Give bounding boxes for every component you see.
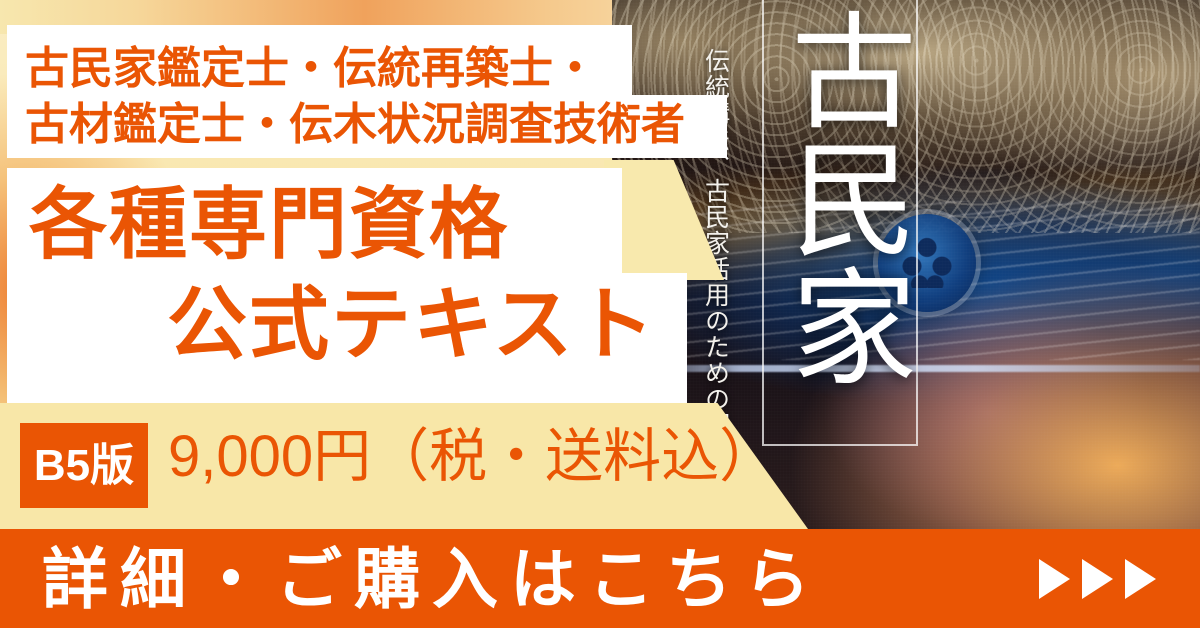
cta-arrow-group bbox=[1039, 559, 1156, 599]
eyebrow-line-2: 古材鑑定士・伝木状況調査技術者 bbox=[25, 103, 685, 147]
cta-bar[interactable]: 詳細・ご購入はこちら bbox=[0, 529, 1200, 628]
main-title-line-2: 公式テキスト bbox=[167, 285, 657, 365]
main-title-panel: 各種専門資格 公式テキスト bbox=[7, 168, 687, 403]
eyebrow-panel: 古民家鑑定士・伝統再築士・ 古材鑑定士・伝木状況調査技術者 bbox=[7, 25, 727, 158]
eyebrow-line-1: 古民家鑑定士・伝統再築士・ bbox=[25, 47, 597, 91]
main-title-line-1: 各種専門資格 bbox=[29, 185, 509, 263]
format-badge-label: B5版 bbox=[34, 444, 134, 488]
chevron-right-icon bbox=[1082, 559, 1113, 599]
promo-banner: 古民家 伝統構法、古民家活用のための調査と再生の 古民家鑑定士・伝統再築士・ 古… bbox=[0, 0, 1200, 628]
price-text: 9,000円（税・送料込） bbox=[168, 428, 777, 486]
format-badge: B5版 bbox=[20, 423, 148, 508]
chevron-right-icon bbox=[1125, 559, 1156, 599]
chevron-right-icon bbox=[1039, 559, 1070, 599]
cta-label: 詳細・ご購入はこちら bbox=[42, 546, 822, 612]
cover-title-vertical: 古民家 bbox=[770, 6, 910, 390]
